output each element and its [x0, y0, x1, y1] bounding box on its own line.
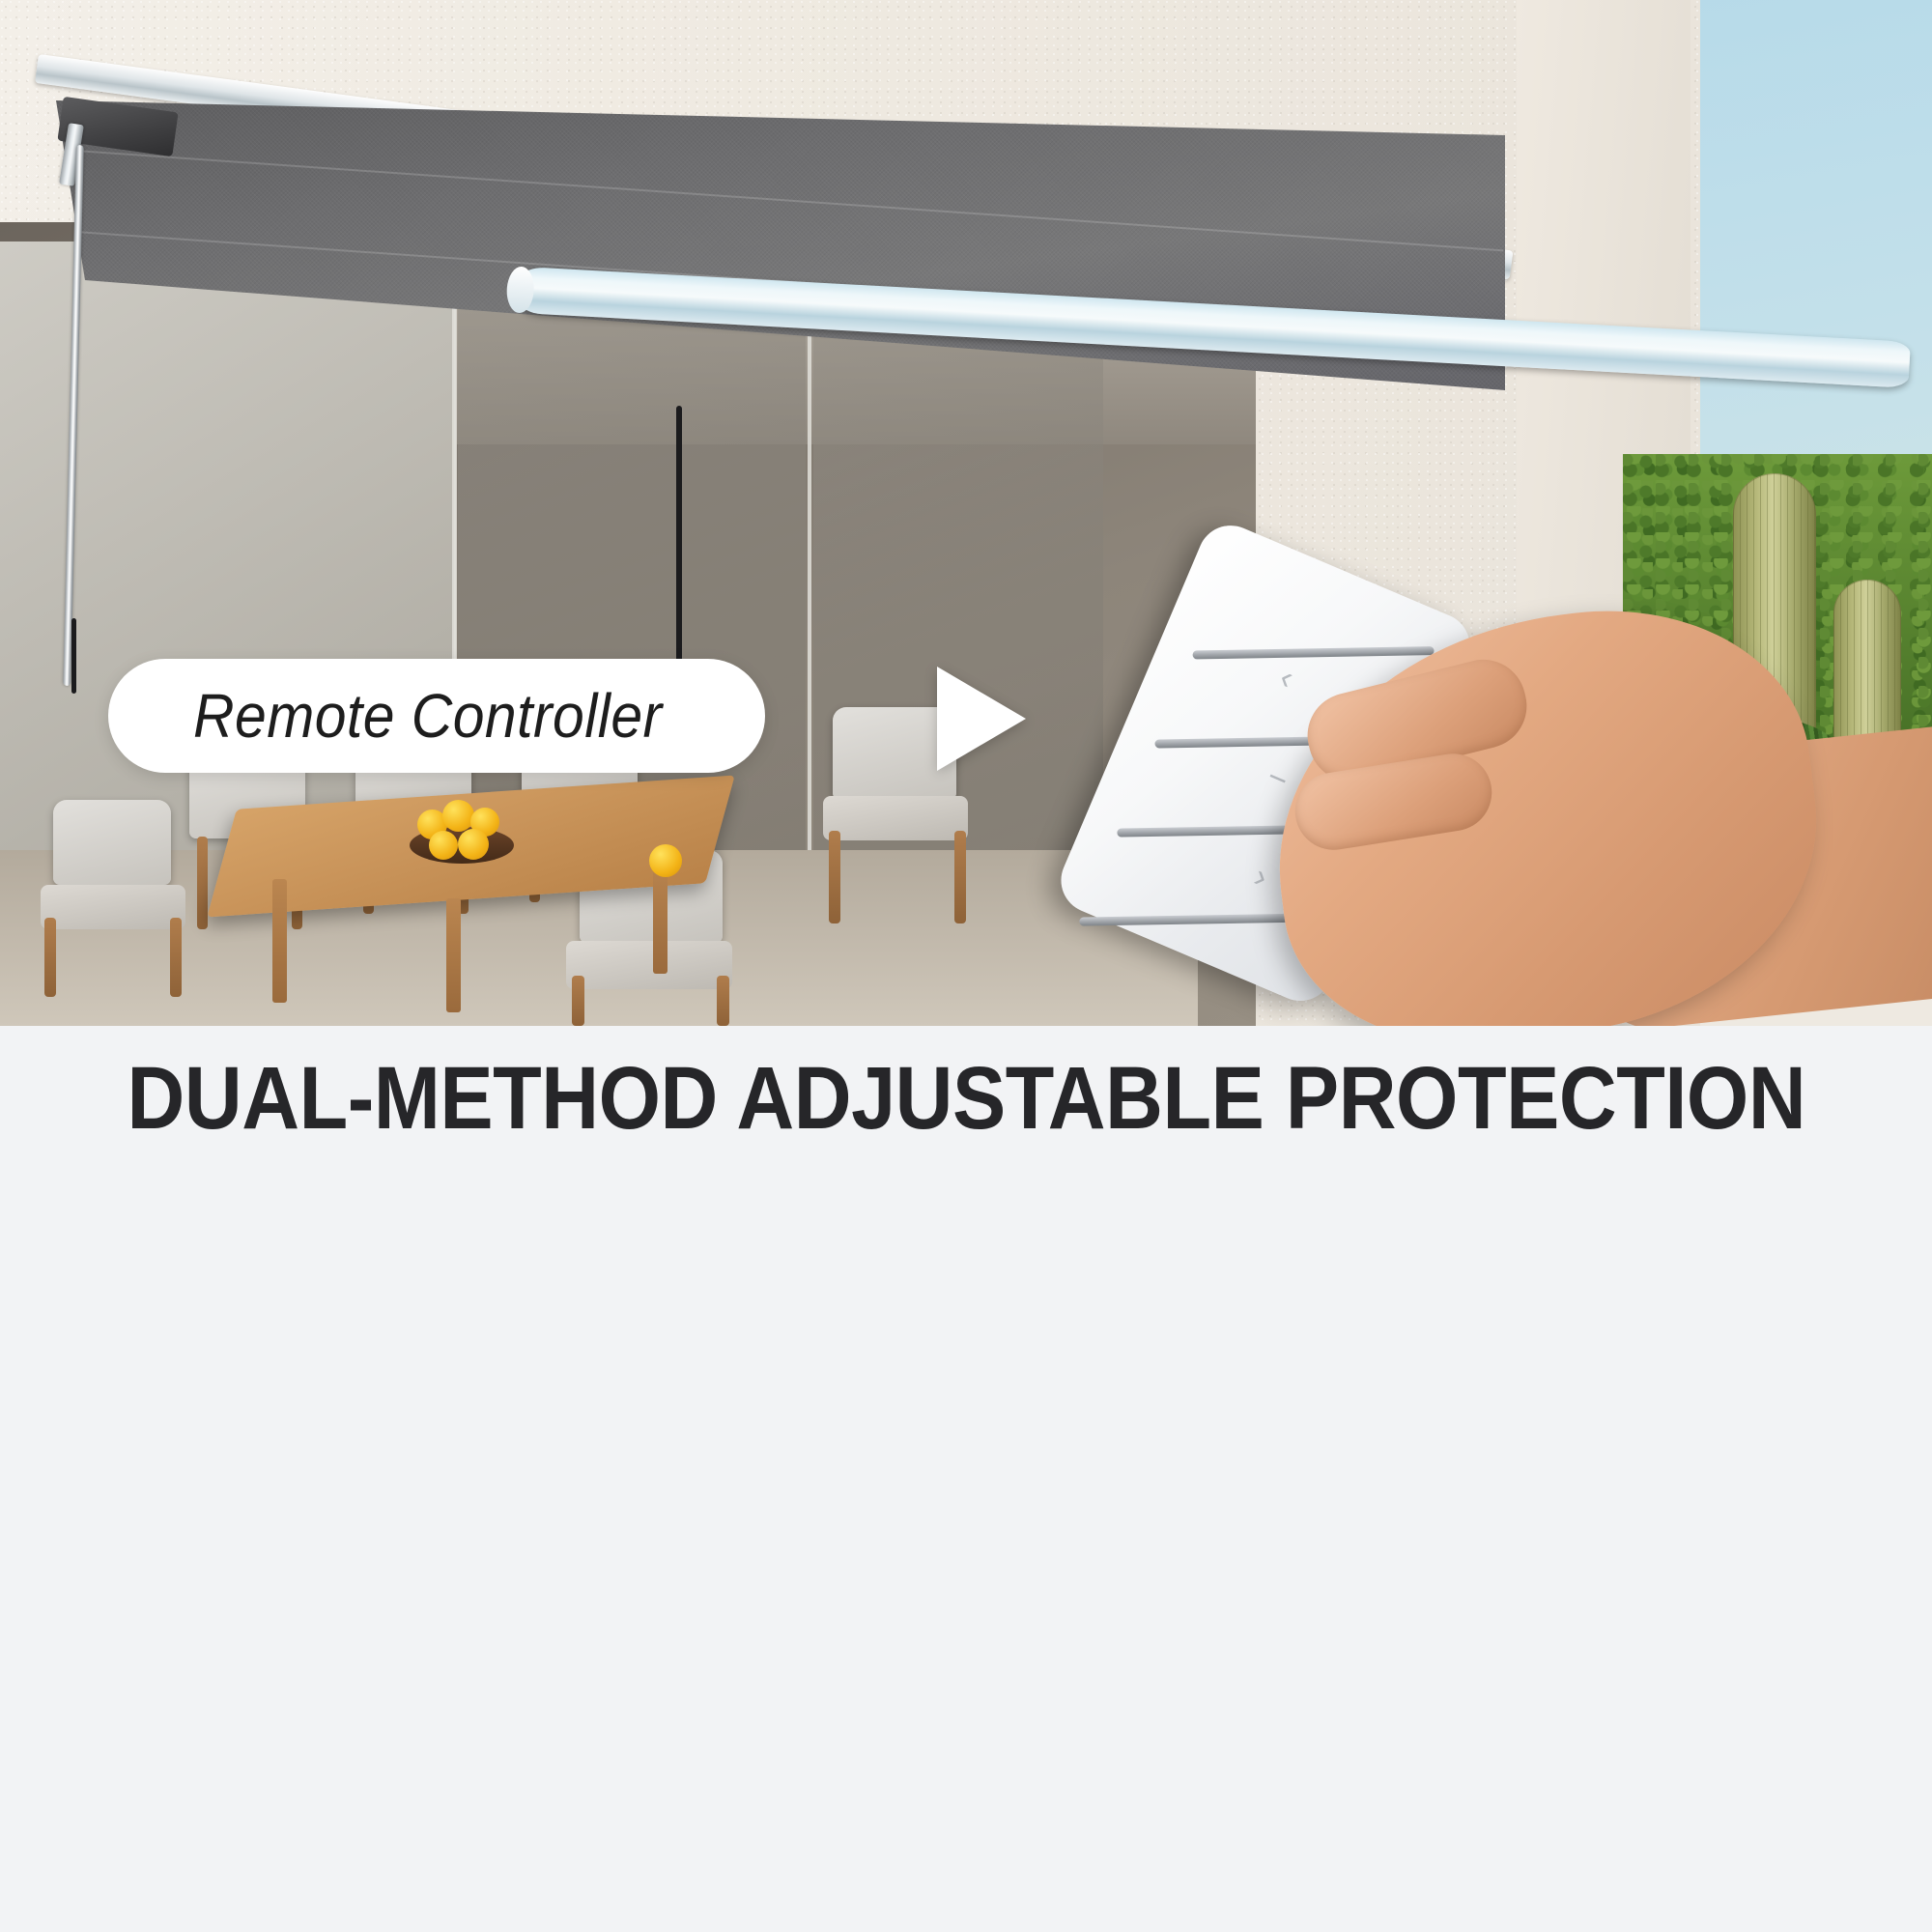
- remote-controller-label: Remote Controller: [193, 680, 663, 752]
- remote-button-extend[interactable]: [1193, 646, 1435, 659]
- headline-text: DUAL-METHOD ADJUSTABLE PROTECTION: [127, 1048, 1805, 1150]
- crank-operation-diagram: Crank Handle: [0, 1198, 1932, 1932]
- patio-awning-photo-scene: ‹ − › Remote Controller: [0, 0, 1932, 1026]
- chevron-down-icon: ›: [1250, 860, 1273, 895]
- right-triangle-arrow-icon: [937, 667, 1026, 771]
- support-pole: [676, 406, 682, 686]
- fruit-loose: [649, 844, 682, 877]
- product-feature-image: ‹ − › Remote Controller DUAL-METHOD ADJU…: [0, 0, 1932, 1932]
- crank-rod-tip: [71, 618, 76, 694]
- chevron-up-icon: ‹: [1275, 661, 1298, 696]
- page-title: DUAL-METHOD ADJUSTABLE PROTECTION: [0, 1048, 1932, 1150]
- fruit-5: [458, 829, 489, 860]
- fruit-4: [429, 831, 458, 860]
- chevron-stop-icon: −: [1263, 760, 1293, 798]
- table-leg-1: [272, 879, 287, 1003]
- remote-controller-callout-pill: Remote Controller: [108, 659, 765, 773]
- fruit-2: [442, 800, 474, 832]
- table-leg-2: [446, 898, 461, 1012]
